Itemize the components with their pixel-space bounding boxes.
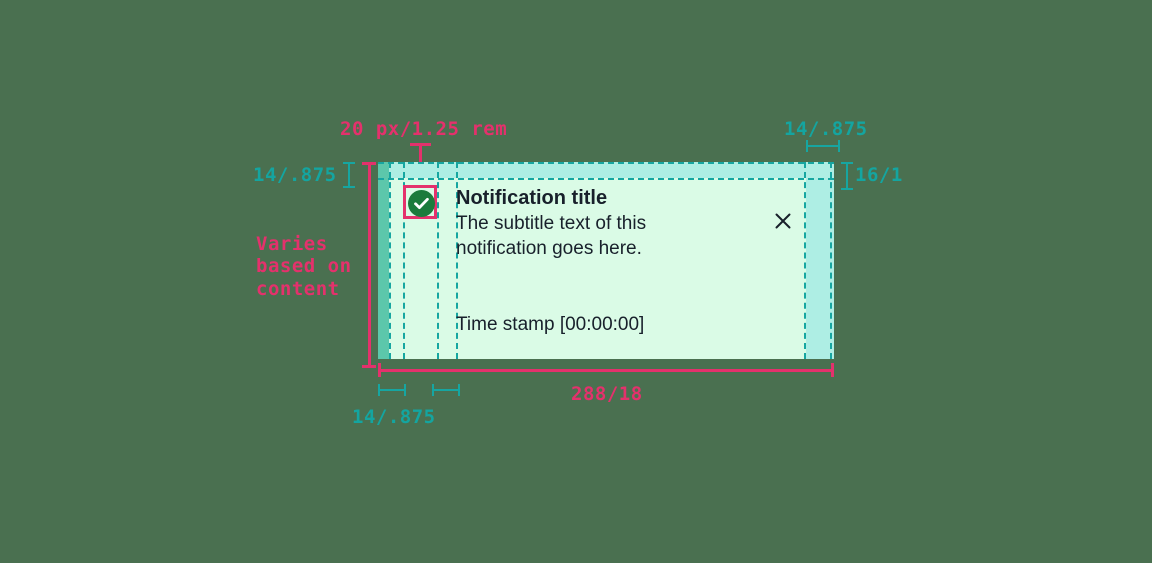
check-circle-icon — [408, 190, 435, 217]
measure-right-inner — [841, 162, 853, 190]
annotation-top-right-padding: 14/.875 — [784, 118, 868, 140]
spec-canvas: 20 px/1.25 rem 14/.875 14/.875 16/1 Vari… — [0, 0, 1152, 563]
notification-spec-box: Notification title The subtitle text of … — [378, 162, 834, 359]
annotation-top-left-padding: 14/.875 — [253, 164, 337, 186]
notification-timestamp: Time stamp [00:00:00] — [456, 314, 644, 337]
notification-body: Notification title The subtitle text of … — [456, 186, 774, 355]
status-icon-bounds — [403, 185, 437, 219]
measure-top-left-padding — [343, 162, 355, 188]
notification-subtitle: The subtitle text of this notification g… — [456, 211, 686, 261]
annotation-icon-size: 20 px/1.25 rem — [340, 118, 507, 140]
close-icon[interactable] — [772, 210, 794, 232]
measure-total-width — [378, 363, 834, 377]
measure-bottom-padding-a — [378, 384, 406, 396]
measure-bottom-padding-b — [432, 384, 460, 396]
guide-card-right — [830, 162, 832, 359]
measure-card-height — [362, 162, 376, 368]
guide-top-padding — [378, 178, 834, 180]
annotation-bottom-left-padding: 14/.875 — [352, 406, 436, 428]
annotation-right-inner: 16/1 — [855, 164, 903, 186]
annotation-total-width: 288/18 — [571, 383, 643, 405]
notification-accent-bar — [378, 162, 389, 359]
guide-accent-edge — [389, 162, 391, 359]
guide-icon-right — [437, 162, 439, 359]
guide-card-top — [378, 162, 834, 164]
notification-title: Notification title — [456, 186, 774, 210]
measure-top-right-padding — [806, 140, 840, 152]
guide-gutter-left — [804, 162, 806, 359]
annotation-height-varies: Varies based on content — [256, 233, 352, 300]
